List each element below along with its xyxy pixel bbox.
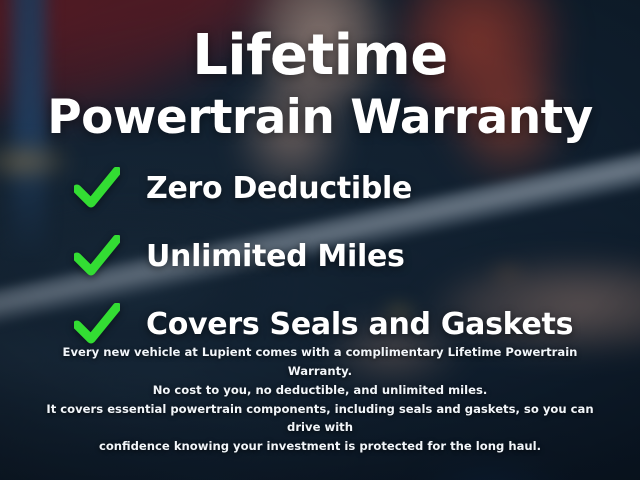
feature-label: Unlimited Miles: [146, 239, 405, 274]
check-icon: [74, 167, 120, 209]
feature-item-zero-deductible: Zero Deductible: [74, 167, 640, 209]
check-icon: [74, 303, 120, 345]
headline-line-2: Powertrain Warranty: [47, 94, 593, 141]
banner-content: Lifetime Powertrain Warranty Zero Deduct…: [0, 0, 640, 480]
feature-label: Covers Seals and Gaskets: [146, 307, 573, 342]
headline-line-1: Lifetime: [192, 28, 448, 84]
feature-list: Zero Deductible Unlimited Miles Covers S…: [0, 167, 640, 345]
paragraph-line-1: Every new vehicle at Lupient comes with …: [34, 343, 606, 381]
paragraph-line-3: It covers essential powertrain component…: [34, 400, 606, 438]
feature-item-unlimited-miles: Unlimited Miles: [74, 235, 640, 277]
disclaimer-paragraph: Every new vehicle at Lupient comes with …: [0, 343, 640, 456]
paragraph-line-4: confidence knowing your investment is pr…: [34, 437, 606, 456]
check-icon: [74, 235, 120, 277]
lifetime-powertrain-warranty-banner: Lifetime Powertrain Warranty Zero Deduct…: [0, 0, 640, 480]
feature-label: Zero Deductible: [146, 171, 412, 206]
paragraph-line-2: No cost to you, no deductible, and unlim…: [34, 381, 606, 400]
feature-item-covers-seals-and-gaskets: Covers Seals and Gaskets: [74, 303, 640, 345]
